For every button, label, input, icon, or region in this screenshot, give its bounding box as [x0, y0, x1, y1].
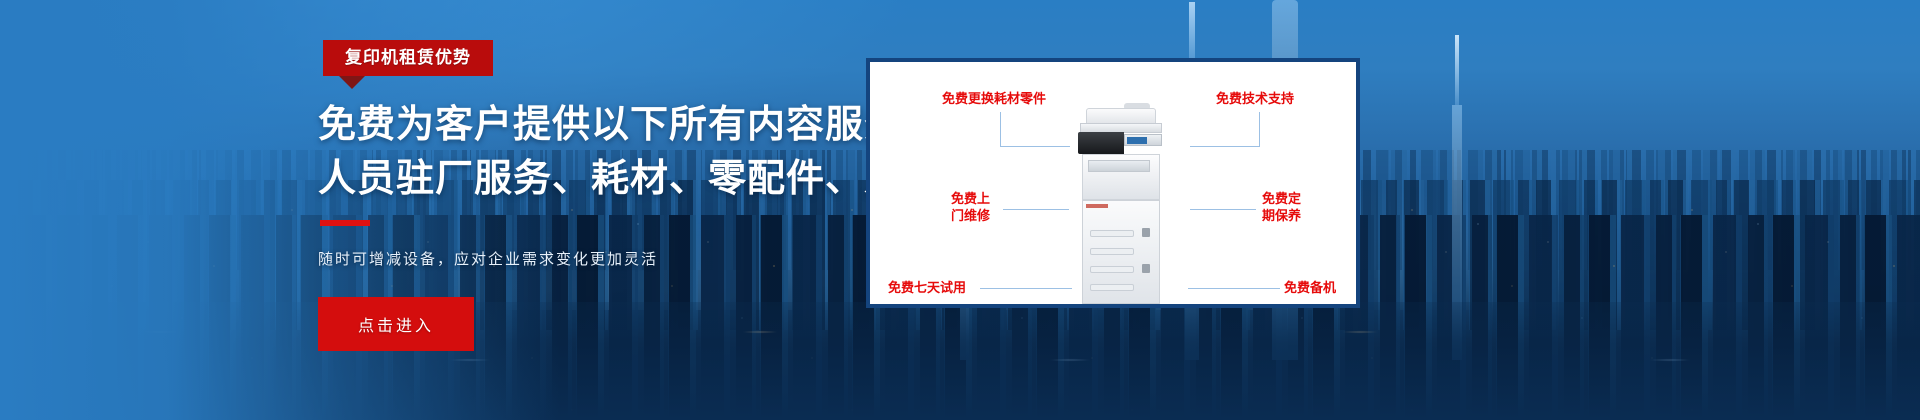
advantage-badge-label: 复印机租赁优势 [323, 40, 493, 76]
copier-diagram-panel: 免费更换耗材零件 免费技术支持 免费上 门维修 免费定 期保养 免费七天试用 免… [866, 58, 1360, 308]
advantage-badge: 复印机租赁优势 [323, 40, 493, 76]
banner-copy-block: 复印机租赁优势 免费为客户提供以下所有内容服务： 人员驻厂服务、耗材、零配件、人… [318, 40, 878, 351]
headline-line-2: 人员驻厂服务、耗材、零配件、人工费 [318, 152, 878, 206]
label-onsite-repair: 免费上 门维修 [951, 190, 990, 224]
label-maintenance-line-1: 免费定 [1262, 191, 1301, 206]
enter-button[interactable]: 点击进入 [318, 297, 474, 351]
copier-drawer-2 [1090, 248, 1134, 255]
badge-pointer-icon [339, 76, 365, 89]
label-backup: 免费备机 [1284, 279, 1336, 296]
headline-line-1: 免费为客户提供以下所有内容服务： [318, 98, 878, 152]
leader-line-maintenance [1190, 209, 1256, 210]
copier-document-feeder [1086, 108, 1156, 124]
subtitle: 随时可增减设备，应对企业需求变化更加灵活 [318, 248, 878, 269]
copier-control-panel [1124, 134, 1162, 146]
leader-line-onsite-repair [1003, 209, 1069, 210]
leader-line-backup [1188, 288, 1280, 289]
copier-drawer-1 [1090, 230, 1134, 237]
copier-drawer-handle-2 [1142, 264, 1150, 273]
copier-diagram-inner: 免费更换耗材零件 免费技术支持 免费上 门维修 免费定 期保养 免费七天试用 免… [870, 62, 1356, 304]
label-onsite-repair-line-1: 免费上 [951, 191, 990, 206]
label-maintenance-line-2: 期保养 [1262, 208, 1301, 223]
copier-dark-panel [1078, 132, 1124, 154]
label-maintenance: 免费定 期保养 [1262, 190, 1301, 224]
copier-brand-logo [1086, 204, 1108, 208]
leader-line-trial [980, 288, 1072, 289]
copier-drawer-4 [1090, 284, 1134, 291]
label-consumables: 免费更换耗材零件 [942, 90, 1046, 107]
label-trial: 免费七天试用 [888, 279, 966, 296]
label-onsite-repair-line-2: 门维修 [951, 208, 990, 223]
headline: 免费为客户提供以下所有内容服务： 人员驻厂服务、耗材、零配件、人工费 [318, 98, 878, 206]
promo-banner: 复印机租赁优势 免费为客户提供以下所有内容服务： 人员驻厂服务、耗材、零配件、人… [0, 0, 1920, 420]
leader-line-consumables [1000, 112, 1070, 147]
copier-drawer-3 [1090, 266, 1134, 273]
copier-output-tray [1088, 160, 1150, 172]
copier-drawer-handle-1 [1142, 228, 1150, 237]
leader-line-tech-support [1190, 112, 1260, 147]
label-tech-support: 免费技术支持 [1216, 90, 1294, 107]
copier-machine-icon [1078, 108, 1164, 308]
accent-rule [320, 220, 370, 226]
